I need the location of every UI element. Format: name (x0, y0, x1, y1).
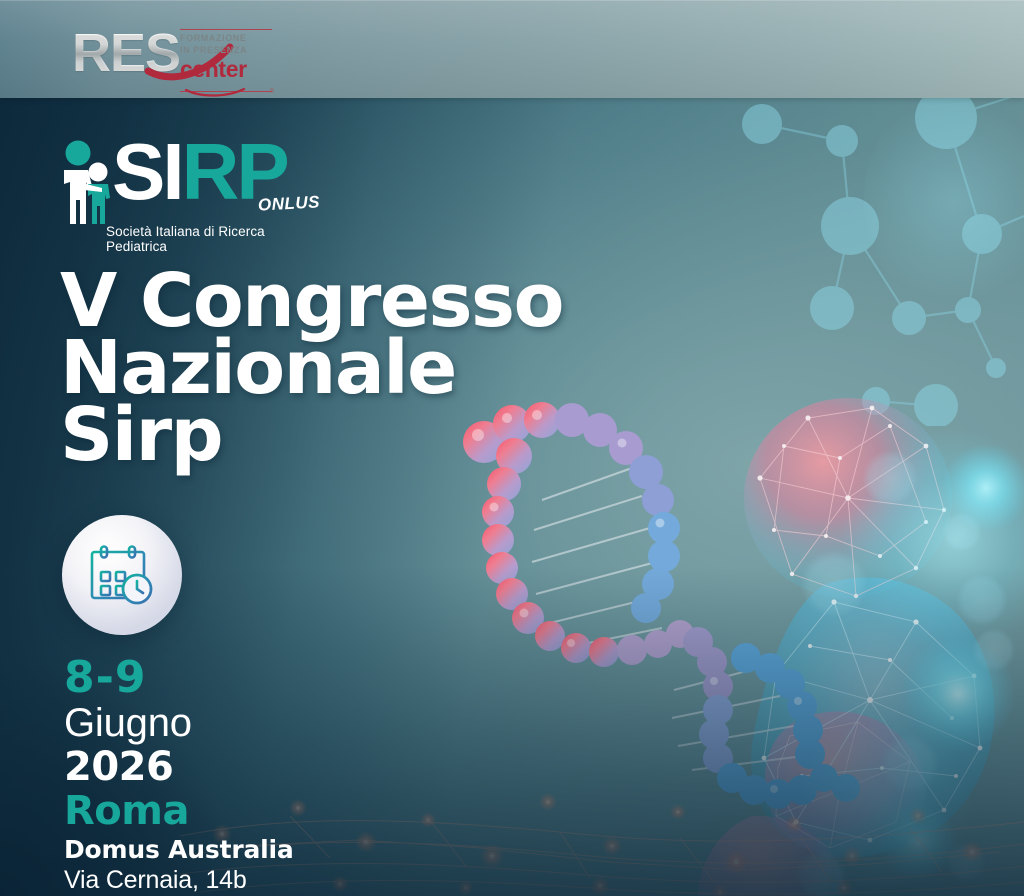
sirp-onlus-label: ONLUS (258, 192, 321, 215)
event-venue: Domus Australia (64, 835, 394, 865)
page-title: V Congresso Nazionale Sirp (60, 268, 620, 469)
res-tagline-line2: IN PRESENZA (180, 45, 272, 57)
res-center-word: center (180, 57, 272, 81)
calendar-clock-icon (89, 544, 155, 606)
res-rule-top (180, 29, 272, 30)
sirp-letters-si: SI (112, 127, 182, 216)
event-days: 8-9 (64, 655, 394, 701)
event-address: Via Cernaia, 14b (64, 865, 394, 895)
event-details: 8-9 Giugno 2026 Roma Domus Australia Via… (64, 655, 394, 895)
event-month: Giugno (64, 701, 394, 745)
res-tagline-line1: FORMAZIONE (180, 33, 272, 45)
title-line-3: Sirp (60, 402, 620, 469)
res-tagline-block: FORMAZIONE IN PRESENZA center ® (180, 29, 272, 92)
calendar-badge (62, 515, 182, 635)
event-year: 2026 (64, 745, 394, 789)
poster-canvas: RES FORMAZIONE IN PRESENZA center ® (0, 0, 1024, 896)
sirp-tagline: Società Italiana di Ricerca Pediatrica (106, 224, 292, 254)
res-center-swoosh-icon (184, 77, 246, 86)
sirp-logo[interactable]: SIRP ONLUS Società Italiana di Ricerca P… (62, 132, 292, 244)
res-registered-mark: ® (270, 89, 274, 95)
adult-and-child-icon (62, 140, 114, 226)
res-center-logo[interactable]: RES FORMAZIONE IN PRESENZA center ® (72, 25, 272, 83)
event-city: Roma (64, 789, 394, 833)
